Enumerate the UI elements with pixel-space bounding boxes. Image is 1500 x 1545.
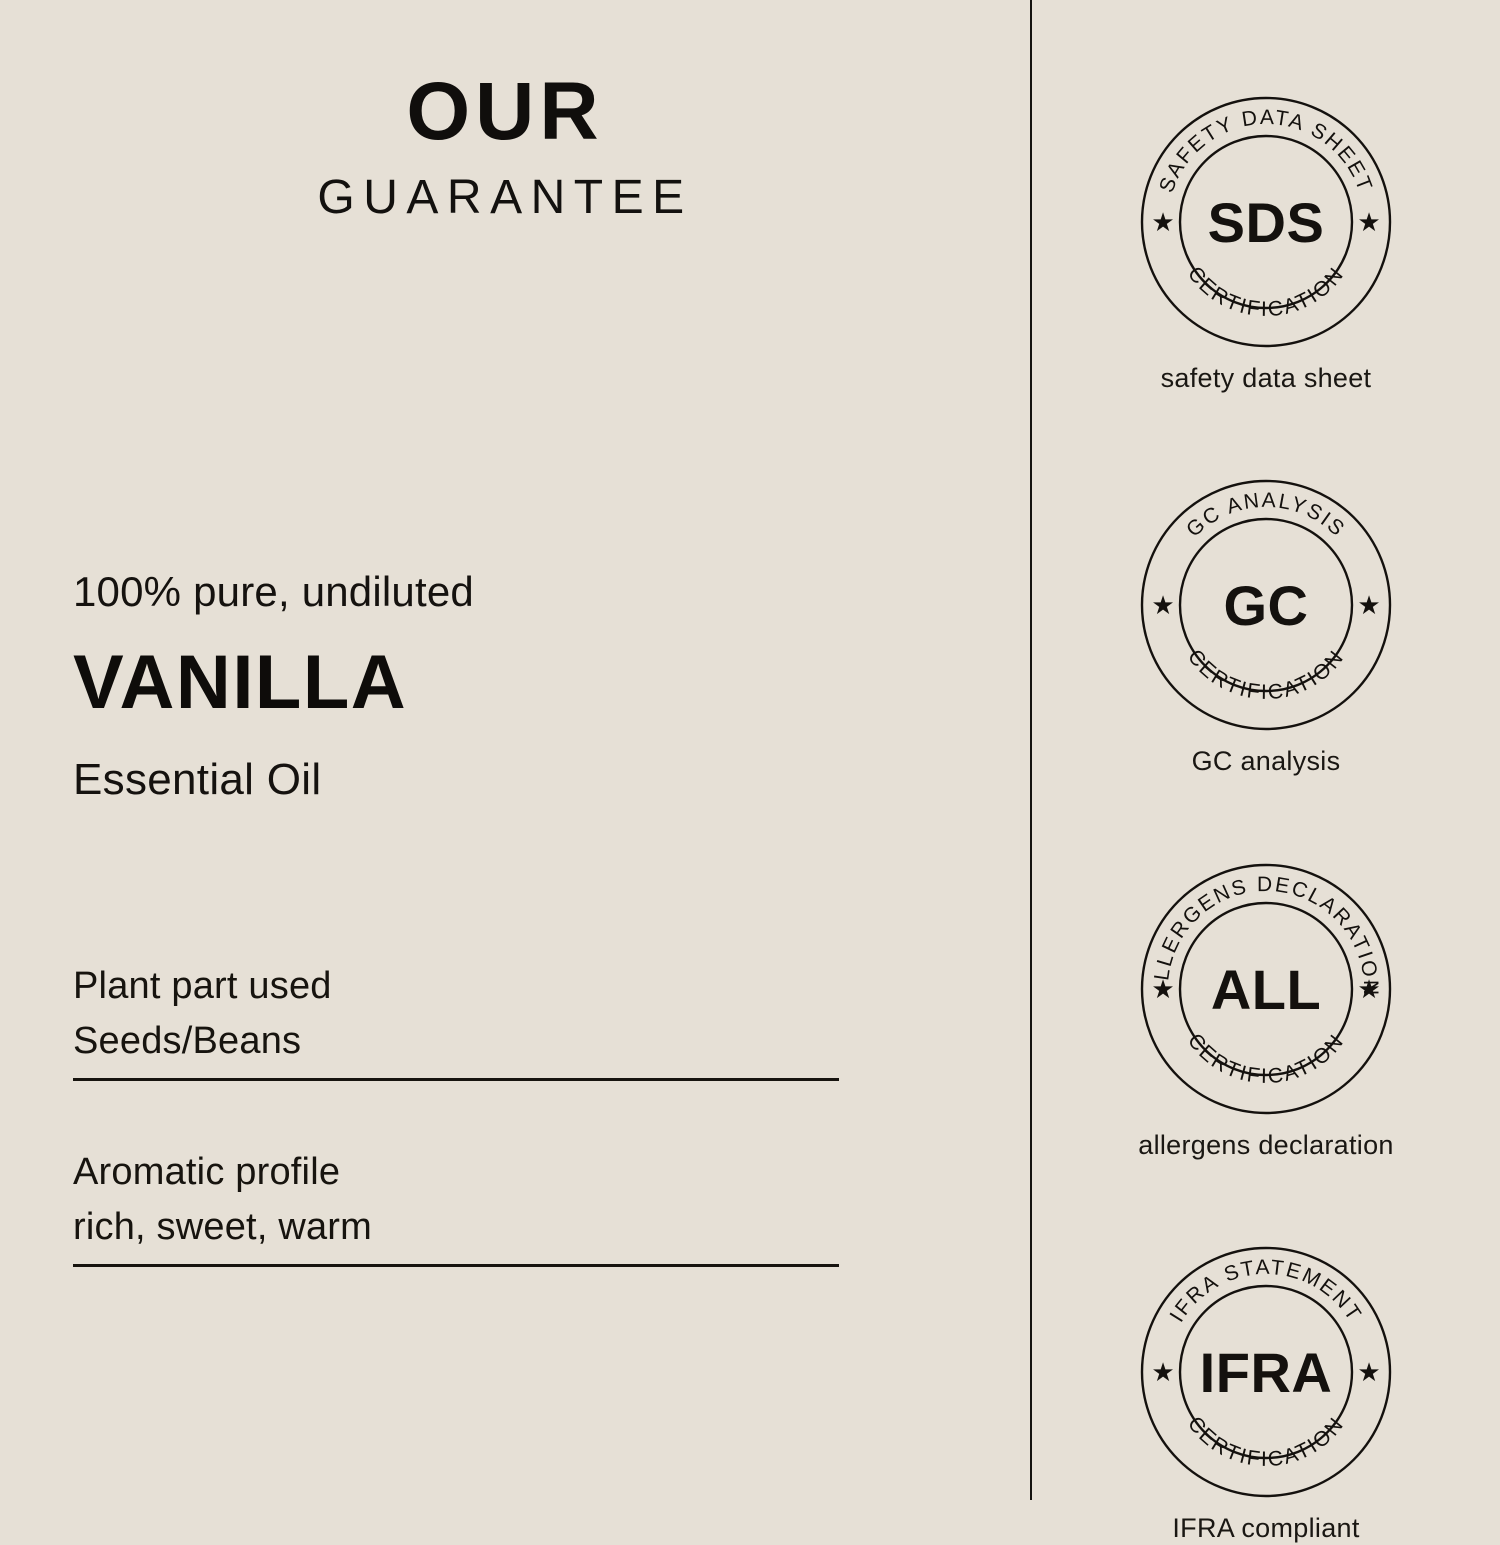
seal-center-label: GC [1224, 574, 1309, 637]
seal-bottom-arc-label: CERTIFICATION [1183, 1413, 1349, 1472]
badge-caption: allergens declaration [1032, 1129, 1500, 1161]
headline-primary: OUR [0, 72, 1010, 152]
seal-bottom-arc-label: CERTIFICATION [1183, 646, 1349, 705]
spec-label: Aromatic profile [73, 1148, 839, 1197]
right-panel: SAFETY DATA SHEET CERTIFICATION ★ ★ SDS … [1032, 0, 1500, 1500]
certification-badge-list: SAFETY DATA SHEET CERTIFICATION ★ ★ SDS … [1032, 96, 1500, 1545]
seal-gc-icon: GC ANALYSIS CERTIFICATION ★ ★ GC [1140, 479, 1392, 731]
star-right-icon: ★ [1357, 207, 1380, 237]
badge-caption: safety data sheet [1032, 362, 1500, 394]
spec-list: Plant part used Seeds/Beans Aromatic pro… [73, 962, 839, 1267]
seal-center-label: ALL [1211, 958, 1321, 1021]
badge-item-gc: GC ANALYSIS CERTIFICATION ★ ★ GC GC anal… [1032, 479, 1500, 777]
headline-secondary: GUARANTEE [0, 162, 1010, 234]
page-title: OUR GUARANTEE [0, 72, 1010, 234]
spec-label: Plant part used [73, 962, 839, 1011]
seal-allergens-icon: ALLERGENS DECLARATION CERTIFICATION ★ ★ … [1140, 863, 1392, 1115]
seal-top-arc-label: SAFETY DATA SHEET [1155, 106, 1377, 196]
badge-item-sds: SAFETY DATA SHEET CERTIFICATION ★ ★ SDS … [1032, 96, 1500, 394]
star-right-icon: ★ [1357, 1357, 1380, 1387]
star-left-icon: ★ [1151, 590, 1174, 620]
spec-row-plant-part: Plant part used Seeds/Beans [73, 962, 839, 1081]
product-name: VANILLA [73, 637, 873, 730]
seal-top-arc-label: IFRA STATEMENT [1166, 1256, 1367, 1326]
seal-center-label: IFRA [1200, 1341, 1333, 1404]
guarantee-page: OUR GUARANTEE 100% pure, undiluted VANIL… [0, 0, 1500, 1500]
star-right-icon: ★ [1357, 974, 1380, 1004]
seal-sds-icon: SAFETY DATA SHEET CERTIFICATION ★ ★ SDS [1140, 96, 1392, 348]
spec-value: Seeds/Beans [73, 1017, 839, 1066]
star-left-icon: ★ [1151, 207, 1174, 237]
badge-item-allergens: ALLERGENS DECLARATION CERTIFICATION ★ ★ … [1032, 863, 1500, 1161]
seal-bottom-arc-label: CERTIFICATION [1183, 1029, 1349, 1088]
star-left-icon: ★ [1151, 974, 1174, 1004]
badge-caption: GC analysis [1032, 745, 1500, 777]
left-panel: OUR GUARANTEE 100% pure, undiluted VANIL… [0, 0, 1030, 1500]
seal-center-label: SDS [1208, 191, 1325, 254]
badge-caption: IFRA compliant [1032, 1512, 1500, 1544]
product-identity: 100% pure, undiluted VANILLA Essential O… [73, 567, 873, 807]
seal-bottom-arc-label: CERTIFICATION [1183, 262, 1349, 321]
seal-ifra-icon: IFRA STATEMENT CERTIFICATION ★ ★ IFRA [1140, 1246, 1392, 1498]
product-tagline: 100% pure, undiluted [73, 567, 873, 617]
star-right-icon: ★ [1357, 590, 1380, 620]
star-left-icon: ★ [1151, 1357, 1174, 1387]
spec-value: rich, sweet, warm [73, 1203, 839, 1252]
spec-row-aromatic-profile: Aromatic profile rich, sweet, warm [73, 1148, 839, 1267]
product-type: Essential Oil [73, 754, 873, 807]
